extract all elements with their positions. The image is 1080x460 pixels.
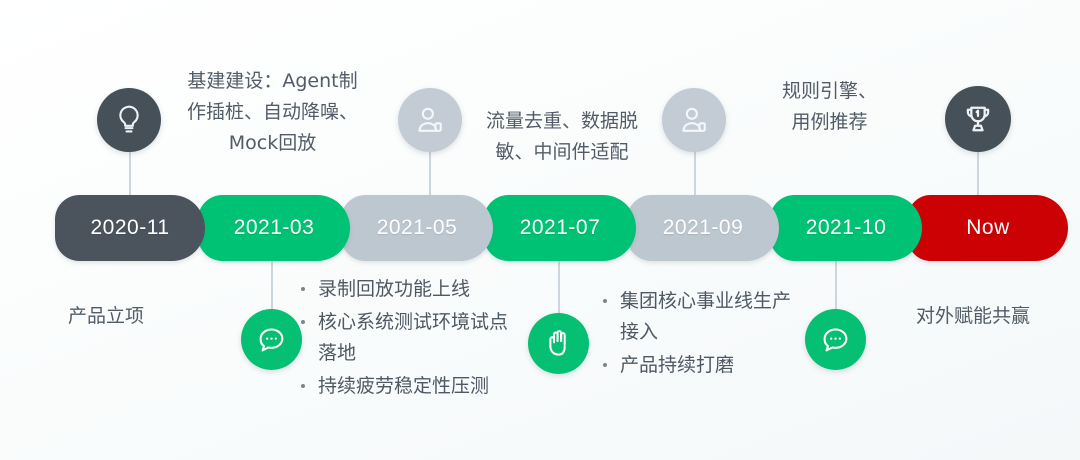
user-icon xyxy=(662,88,726,152)
list-item: 核心系统测试环境试点落地 xyxy=(296,307,521,369)
segment-label: 2020-11 xyxy=(90,216,169,240)
chat-bubble-icon xyxy=(241,309,302,370)
timeline-segment-2021-10[interactable]: 2021-10 xyxy=(770,195,922,261)
user-icon xyxy=(398,88,462,152)
connector-line-user1 xyxy=(429,150,431,200)
connector-line-trophy xyxy=(977,150,979,200)
connector-line-bulb xyxy=(129,150,131,200)
segment-label: 2021-05 xyxy=(377,216,458,240)
connector-line-user2 xyxy=(694,150,696,200)
list-item: 持续疲劳稳定性压测 xyxy=(296,371,521,402)
timeline-segment-2021-07[interactable]: 2021-07 xyxy=(484,195,636,261)
bullets-2021-05: 录制回放功能上线 核心系统测试环境试点落地 持续疲劳稳定性压测 xyxy=(296,274,521,404)
timeline-segment-2021-05[interactable]: 2021-05 xyxy=(341,195,493,261)
note-line: 敏、中间件适配 xyxy=(462,137,662,168)
note-line: 作插桩、自动降噪、 xyxy=(160,97,385,128)
timeline-segment-2021-03[interactable]: 2021-03 xyxy=(198,195,350,261)
connector-line-chat2 xyxy=(835,258,837,313)
bullets-2021-09: 集团核心事业线生产接入 产品持续打磨 xyxy=(598,286,803,383)
hand-icon xyxy=(528,313,589,374)
note-2021-10: 规则引擎、 用例推荐 xyxy=(742,76,917,138)
note-line: 基建建设：Agent制 xyxy=(160,66,385,97)
caption-end: 对外赋能共赢 xyxy=(916,303,1030,329)
caption-start: 产品立项 xyxy=(68,303,144,329)
segment-label: 2021-03 xyxy=(234,216,315,240)
note-line: 用例推荐 xyxy=(742,107,917,138)
segment-label: 2021-07 xyxy=(520,216,601,240)
timeline-infographic: 2020-11 2021-03 2021-05 2021-07 2021-09 … xyxy=(0,0,1080,460)
timeline-segment-2020-11[interactable]: 2020-11 xyxy=(55,195,205,261)
chat-bubble-icon xyxy=(805,309,866,370)
timeline-segment-now[interactable]: Now xyxy=(908,195,1068,261)
trophy-icon xyxy=(945,86,1011,152)
connector-line-chat1 xyxy=(271,258,273,313)
list-item: 产品持续打磨 xyxy=(598,350,803,381)
segment-label: 2021-10 xyxy=(806,216,887,240)
note-line: 流量去重、数据脱 xyxy=(462,106,662,137)
list-item: 录制回放功能上线 xyxy=(296,274,521,305)
note-2021-03: 基建建设：Agent制 作插桩、自动降噪、 Mock回放 xyxy=(160,66,385,159)
segment-label: Now xyxy=(966,216,1010,240)
segment-label: 2021-09 xyxy=(663,216,744,240)
connector-line-hand xyxy=(558,258,560,316)
list-item: 集团核心事业线生产接入 xyxy=(598,286,803,348)
lightbulb-icon xyxy=(97,88,161,152)
note-2021-07: 流量去重、数据脱 敏、中间件适配 xyxy=(462,106,662,168)
note-line: 规则引擎、 xyxy=(742,76,917,107)
note-line: Mock回放 xyxy=(160,128,385,159)
timeline-segment-2021-09[interactable]: 2021-09 xyxy=(627,195,779,261)
